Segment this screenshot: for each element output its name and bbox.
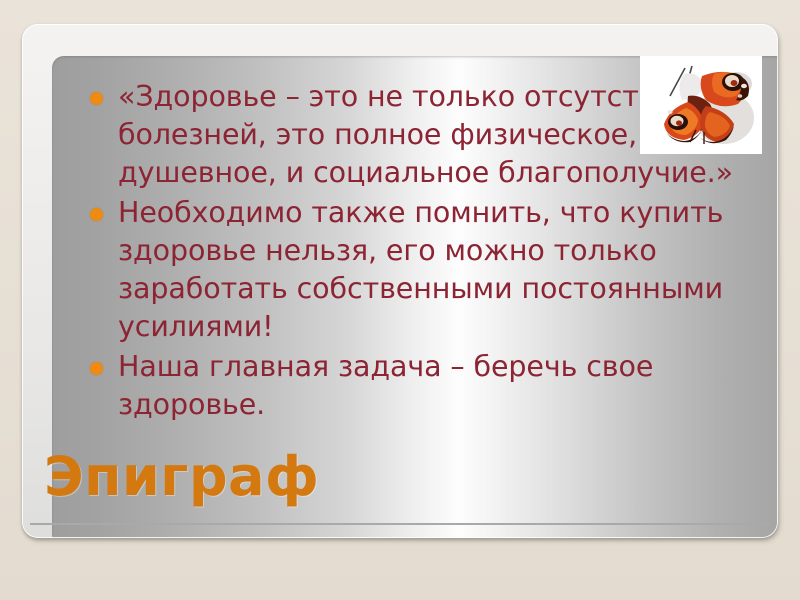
butterfly-icon bbox=[640, 56, 762, 154]
list-item: Наша главная задача – беречь свое здоров… bbox=[78, 348, 778, 424]
bullet-text: Наша главная задача – беречь свое здоров… bbox=[118, 350, 653, 421]
bullet-dot-icon bbox=[90, 208, 103, 221]
slide-frame: «Здоровье – это не только отсутствие бол… bbox=[22, 24, 778, 538]
butterfly-image bbox=[640, 56, 762, 154]
list-item: Необходимо также помнить, что купить здо… bbox=[78, 194, 778, 346]
bullet-dot-icon bbox=[90, 92, 103, 105]
bullet-dot-icon bbox=[90, 362, 103, 375]
page-title: Эпиграф bbox=[44, 448, 319, 506]
slide-stage: «Здоровье – это не только отсутствие бол… bbox=[0, 0, 800, 600]
footer-divider bbox=[30, 523, 770, 525]
bullet-text: Необходимо также помнить, что купить здо… bbox=[118, 196, 723, 343]
